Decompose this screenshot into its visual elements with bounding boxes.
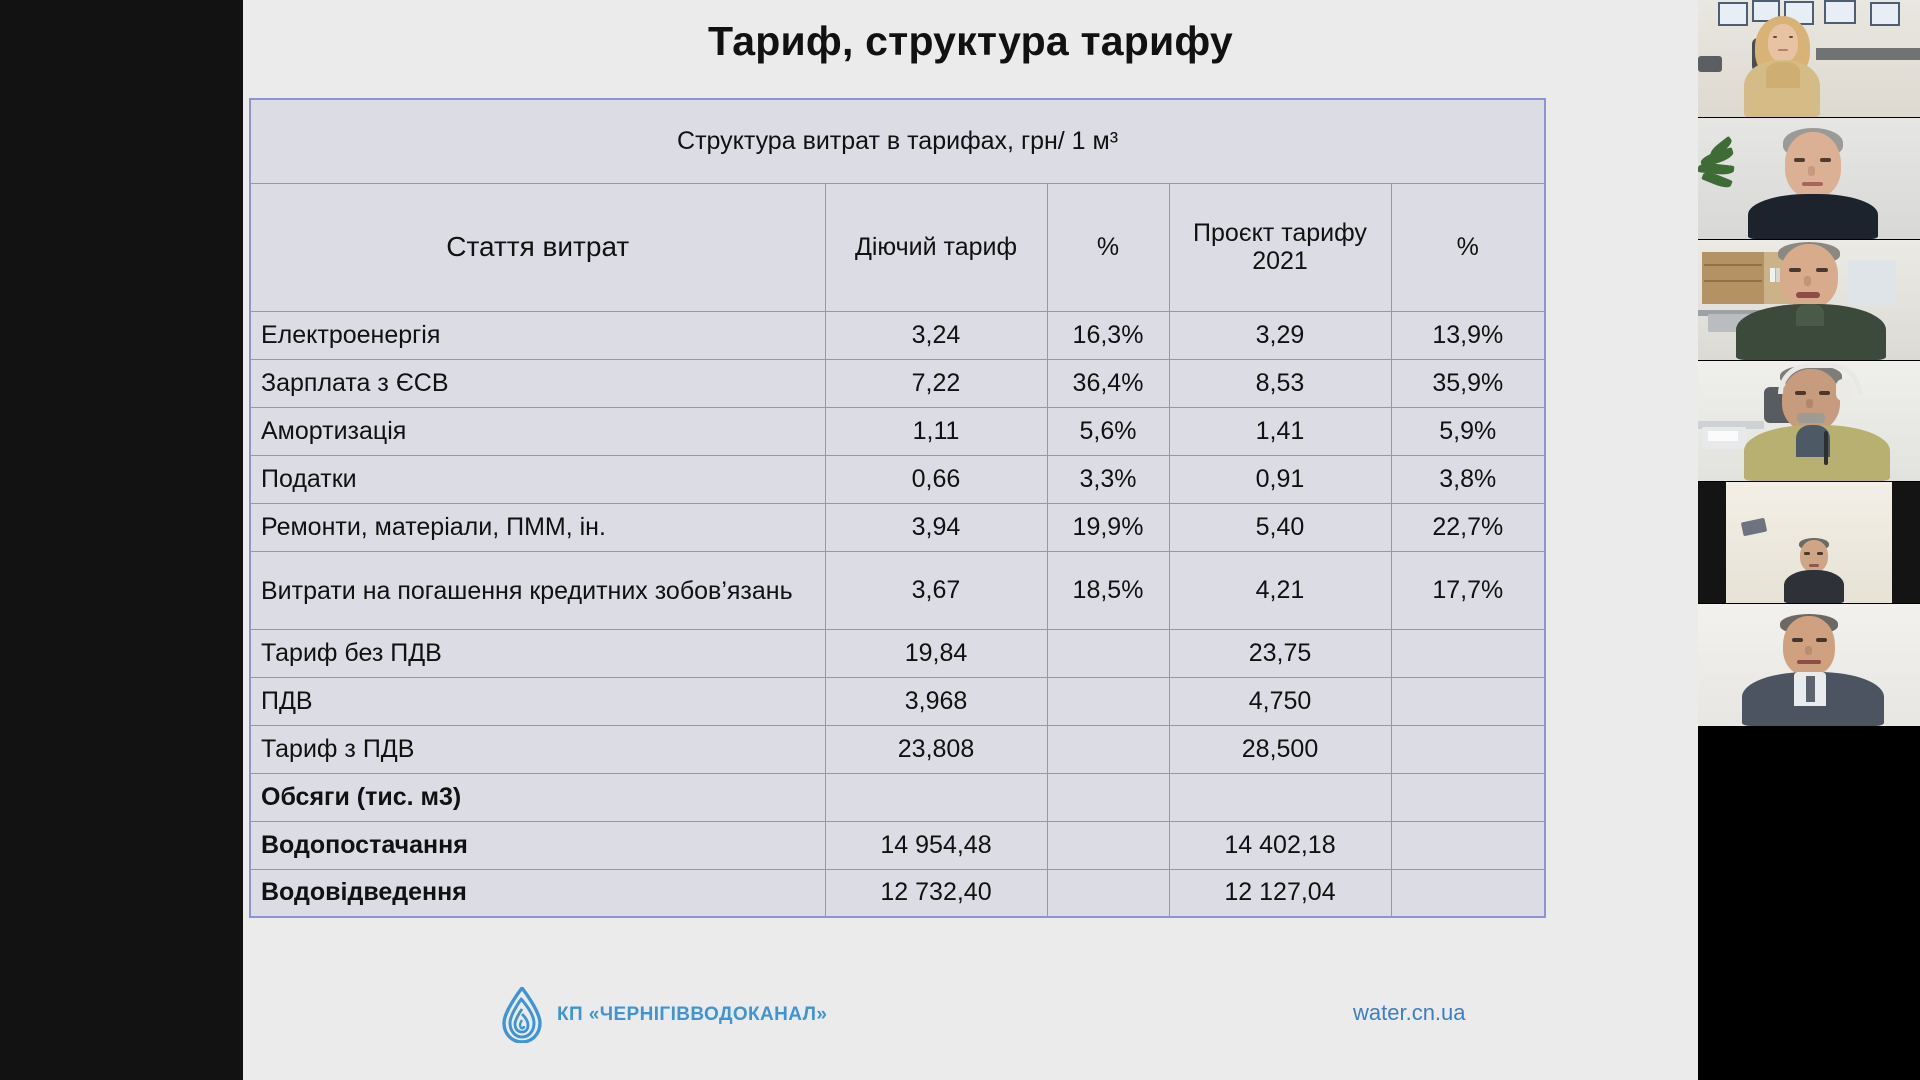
cell-pct-project: [1391, 869, 1545, 917]
cell-label: Зарплата з ЄСВ: [250, 359, 825, 407]
participant-video: [1698, 118, 1920, 239]
cell-project: 28,500: [1169, 725, 1391, 773]
cell-current: 23,808: [825, 725, 1047, 773]
cell-project: 23,75: [1169, 629, 1391, 677]
cell-label: Тариф з ПДВ: [250, 725, 825, 773]
cell-pct-project: 22,7%: [1391, 503, 1545, 551]
cell-project: [1169, 773, 1391, 821]
cell-pct-current: 5,6%: [1047, 407, 1169, 455]
table-row: Податки 0,66 3,3% 0,91 3,8%: [250, 455, 1545, 503]
participant-video: [1698, 361, 1920, 481]
cell-project: 8,53: [1169, 359, 1391, 407]
participant-tile[interactable]: [1698, 361, 1920, 482]
cell-current: 12 732,40: [825, 869, 1047, 917]
cell-label: Витрати на погашення кредитних зобов’яза…: [250, 551, 825, 629]
cell-pct-project: 3,8%: [1391, 455, 1545, 503]
site-url[interactable]: water.cn.ua: [1353, 1000, 1466, 1026]
cell-project: 5,40: [1169, 503, 1391, 551]
cell-pct-project: 13,9%: [1391, 311, 1545, 359]
participant-video: [1698, 604, 1920, 726]
table-row: Водовідведення 12 732,40 12 127,04: [250, 869, 1545, 917]
cell-pct-current: 16,3%: [1047, 311, 1169, 359]
cell-pct-current: [1047, 869, 1169, 917]
shared-screen-area[interactable]: Тариф, структура тарифу Структура витрат…: [0, 0, 1698, 1080]
cell-pct-project: 35,9%: [1391, 359, 1545, 407]
cell-label: Амортизація: [250, 407, 825, 455]
cell-label: Тариф без ПДВ: [250, 629, 825, 677]
cell-current: 3,24: [825, 311, 1047, 359]
cell-label: Водовідведення: [250, 869, 825, 917]
cell-pct-project: [1391, 773, 1545, 821]
cell-pct-current: 36,4%: [1047, 359, 1169, 407]
table-row: Тариф без ПДВ 19,84 23,75: [250, 629, 1545, 677]
filmstrip-empty-space: [1698, 727, 1920, 1080]
cell-project: 4,750: [1169, 677, 1391, 725]
slide-title: Тариф, структура тарифу: [243, 18, 1698, 65]
cell-current: 1,11: [825, 407, 1047, 455]
participant-tile[interactable]: [1698, 482, 1920, 604]
cell-project: 4,21: [1169, 551, 1391, 629]
cell-label: Ремонти, матеріали, ПММ, ін.: [250, 503, 825, 551]
table-row-section: Обсяги (тис. м3): [250, 773, 1545, 821]
table-caption-row: Структура витрат в тарифах, грн/ 1 м³: [250, 99, 1545, 183]
slide-footer: КП «ЧЕРНІГІВВОДОКАНАЛ» water.cn.ua: [243, 980, 1698, 1050]
cell-pct-project: [1391, 677, 1545, 725]
table-row: Витрати на погашення кредитних зобов’яза…: [250, 551, 1545, 629]
cell-current: 0,66: [825, 455, 1047, 503]
cell-current: [825, 773, 1047, 821]
cell-pct-project: [1391, 821, 1545, 869]
participant-video: [1698, 0, 1920, 117]
cell-pct-project: 5,9%: [1391, 407, 1545, 455]
company-brand: КП «ЧЕРНІГІВВОДОКАНАЛ»: [501, 987, 827, 1043]
participant-filmstrip[interactable]: [1698, 0, 1920, 1080]
participant-video: [1698, 482, 1920, 603]
cell-current: 3,67: [825, 551, 1047, 629]
cell-pct-current: 18,5%: [1047, 551, 1169, 629]
presentation-slide: Тариф, структура тарифу Структура витрат…: [243, 0, 1698, 1080]
column-header-current: Діючий тариф: [825, 183, 1047, 311]
column-header-project: Проєкт тарифу 2021: [1169, 183, 1391, 311]
participant-tile[interactable]: [1698, 118, 1920, 240]
cell-pct-current: [1047, 725, 1169, 773]
screen-letterbox-left: [0, 0, 243, 1080]
cell-pct-current: [1047, 629, 1169, 677]
cell-label: Обсяги (тис. м3): [250, 773, 825, 821]
cell-label: ПДВ: [250, 677, 825, 725]
cell-pct-current: [1047, 773, 1169, 821]
table-row-total: Тариф з ПДВ 23,808 28,500: [250, 725, 1545, 773]
cell-pct-project: [1391, 725, 1545, 773]
tariff-table-wrapper: Структура витрат в тарифах, грн/ 1 м³ Ст…: [249, 98, 1544, 918]
cell-pct-current: [1047, 821, 1169, 869]
table-header-row: Стаття витрат Діючий тариф % Проєкт тари…: [250, 183, 1545, 311]
cell-label: Податки: [250, 455, 825, 503]
cell-label: Електроенергія: [250, 311, 825, 359]
cell-project: 0,91: [1169, 455, 1391, 503]
conference-screen: Тариф, структура тарифу Структура витрат…: [0, 0, 1920, 1080]
participant-video: [1698, 240, 1920, 360]
brand-name: КП «ЧЕРНІГІВВОДОКАНАЛ»: [557, 1004, 827, 1026]
water-drop-icon: [501, 987, 543, 1043]
cell-project: 12 127,04: [1169, 869, 1391, 917]
tariff-table: Структура витрат в тарифах, грн/ 1 м³ Ст…: [249, 98, 1546, 918]
cell-current: 14 954,48: [825, 821, 1047, 869]
participant-tile[interactable]: [1698, 604, 1920, 727]
table-row: Амортизація 1,11 5,6% 1,41 5,9%: [250, 407, 1545, 455]
table-caption: Структура витрат в тарифах, грн/ 1 м³: [250, 99, 1545, 183]
cell-pct-current: 19,9%: [1047, 503, 1169, 551]
table-row: Водопостачання 14 954,48 14 402,18: [250, 821, 1545, 869]
table-row: ПДВ 3,968 4,750: [250, 677, 1545, 725]
cell-current: 19,84: [825, 629, 1047, 677]
cell-current: 7,22: [825, 359, 1047, 407]
cell-project: 3,29: [1169, 311, 1391, 359]
table-row: Електроенергія 3,24 16,3% 3,29 13,9%: [250, 311, 1545, 359]
cell-current: 3,94: [825, 503, 1047, 551]
cell-pct-project: [1391, 629, 1545, 677]
cell-pct-current: [1047, 677, 1169, 725]
participant-tile[interactable]: [1698, 240, 1920, 361]
participant-tile[interactable]: [1698, 0, 1920, 118]
table-row: Ремонти, матеріали, ПММ, ін. 3,94 19,9% …: [250, 503, 1545, 551]
column-header-item: Стаття витрат: [250, 183, 825, 311]
cell-current: 3,968: [825, 677, 1047, 725]
column-header-pct-current: %: [1047, 183, 1169, 311]
cell-pct-project: 17,7%: [1391, 551, 1545, 629]
cell-project: 14 402,18: [1169, 821, 1391, 869]
column-header-pct-project: %: [1391, 183, 1545, 311]
cell-label: Водопостачання: [250, 821, 825, 869]
cell-project: 1,41: [1169, 407, 1391, 455]
cell-pct-current: 3,3%: [1047, 455, 1169, 503]
table-row: Зарплата з ЄСВ 7,22 36,4% 8,53 35,9%: [250, 359, 1545, 407]
